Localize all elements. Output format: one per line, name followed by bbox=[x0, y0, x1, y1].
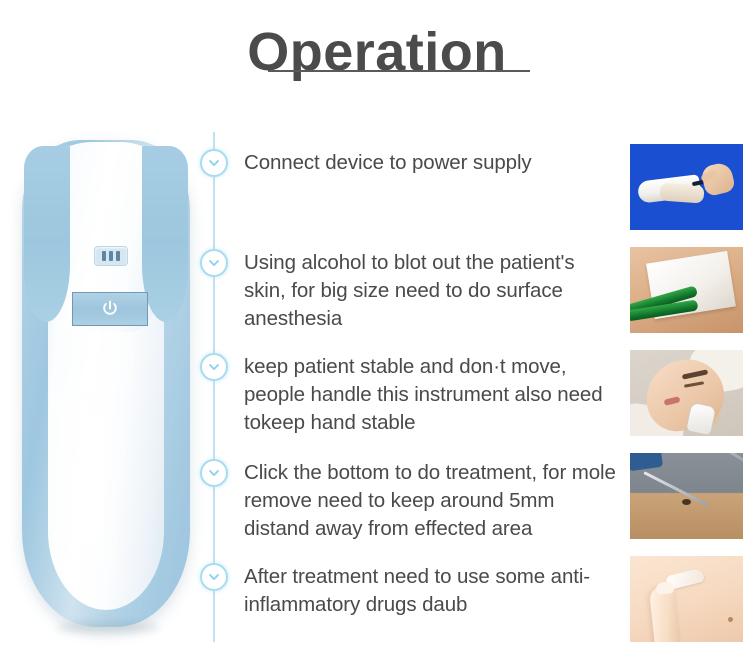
device-plug-in-photo bbox=[630, 144, 743, 230]
thumb-fingernail bbox=[655, 581, 674, 595]
device-drop-shadow bbox=[56, 622, 160, 633]
chevron-down-icon bbox=[207, 156, 221, 170]
step-item-3: keep patient stable and don·t move, peop… bbox=[200, 353, 620, 437]
chevron-down-icon bbox=[207, 256, 221, 270]
step-item-5: After treatment need to use some anti-in… bbox=[200, 563, 620, 619]
title-underline bbox=[268, 70, 530, 72]
thumb-probe-needle bbox=[643, 471, 709, 506]
facial-treatment-photo bbox=[630, 350, 743, 436]
step-text-4: Click the bottom to do treatment, for mo… bbox=[244, 459, 616, 543]
step-thumbnail-5 bbox=[630, 556, 743, 642]
step-item-2: Using alcohol to blot out the patient's … bbox=[200, 249, 620, 333]
cream-application-photo bbox=[630, 556, 743, 642]
device-body bbox=[22, 140, 190, 627]
probe-closeup-photo bbox=[630, 453, 743, 539]
step-marker-5[interactable] bbox=[200, 563, 228, 591]
device-gloss-highlight bbox=[78, 390, 104, 590]
thumb-treatment-spot bbox=[682, 499, 691, 505]
step-text-1: Connect device to power supply bbox=[244, 149, 532, 177]
chevron-down-icon bbox=[207, 466, 221, 480]
step-marker-4[interactable] bbox=[200, 459, 228, 487]
device-wing-left bbox=[24, 146, 70, 322]
step-text-5: After treatment need to use some anti-in… bbox=[244, 563, 616, 619]
step-thumbnail-3 bbox=[630, 350, 743, 436]
thumb-handpiece bbox=[685, 402, 717, 436]
step-thumbnail-column bbox=[630, 144, 754, 651]
thumb-skin-mark bbox=[728, 617, 733, 622]
step-marker-3[interactable] bbox=[200, 353, 228, 381]
step-thumbnail-1 bbox=[630, 144, 743, 230]
step-item-1: Connect device to power supply bbox=[200, 149, 620, 177]
thumb-probe-tweezer bbox=[685, 453, 743, 464]
step-marker-1[interactable] bbox=[200, 149, 228, 177]
power-icon bbox=[100, 299, 120, 319]
step-thumbnail-2 bbox=[630, 247, 743, 333]
device-wing-right bbox=[142, 146, 188, 322]
step-thumbnail-4 bbox=[630, 453, 743, 539]
device-power-button[interactable] bbox=[72, 292, 148, 326]
gauze-forceps-photo bbox=[630, 247, 743, 333]
thumb-device-grip bbox=[659, 182, 704, 203]
step-text-3: keep patient stable and don·t move, peop… bbox=[244, 353, 616, 437]
step-item-4: Click the bottom to do treatment, for mo… bbox=[200, 459, 620, 543]
chevron-down-icon bbox=[207, 360, 221, 374]
thumb-blue-drape bbox=[630, 453, 663, 471]
steps-timeline: Connect device to power supply Using alc… bbox=[200, 132, 620, 642]
step-marker-2[interactable] bbox=[200, 249, 228, 277]
led-bar bbox=[116, 251, 120, 261]
led-bar bbox=[102, 251, 106, 261]
device-gloss-secondary bbox=[56, 350, 68, 580]
device-led-indicator bbox=[94, 246, 128, 266]
operation-infographic: Operation bbox=[0, 0, 754, 651]
page-title: Operation bbox=[0, 24, 754, 81]
device-photo bbox=[22, 140, 190, 635]
chevron-down-icon bbox=[207, 570, 221, 584]
title-block: Operation bbox=[0, 24, 754, 81]
step-text-2: Using alcohol to blot out the patient's … bbox=[244, 249, 616, 333]
led-bar bbox=[109, 251, 113, 261]
